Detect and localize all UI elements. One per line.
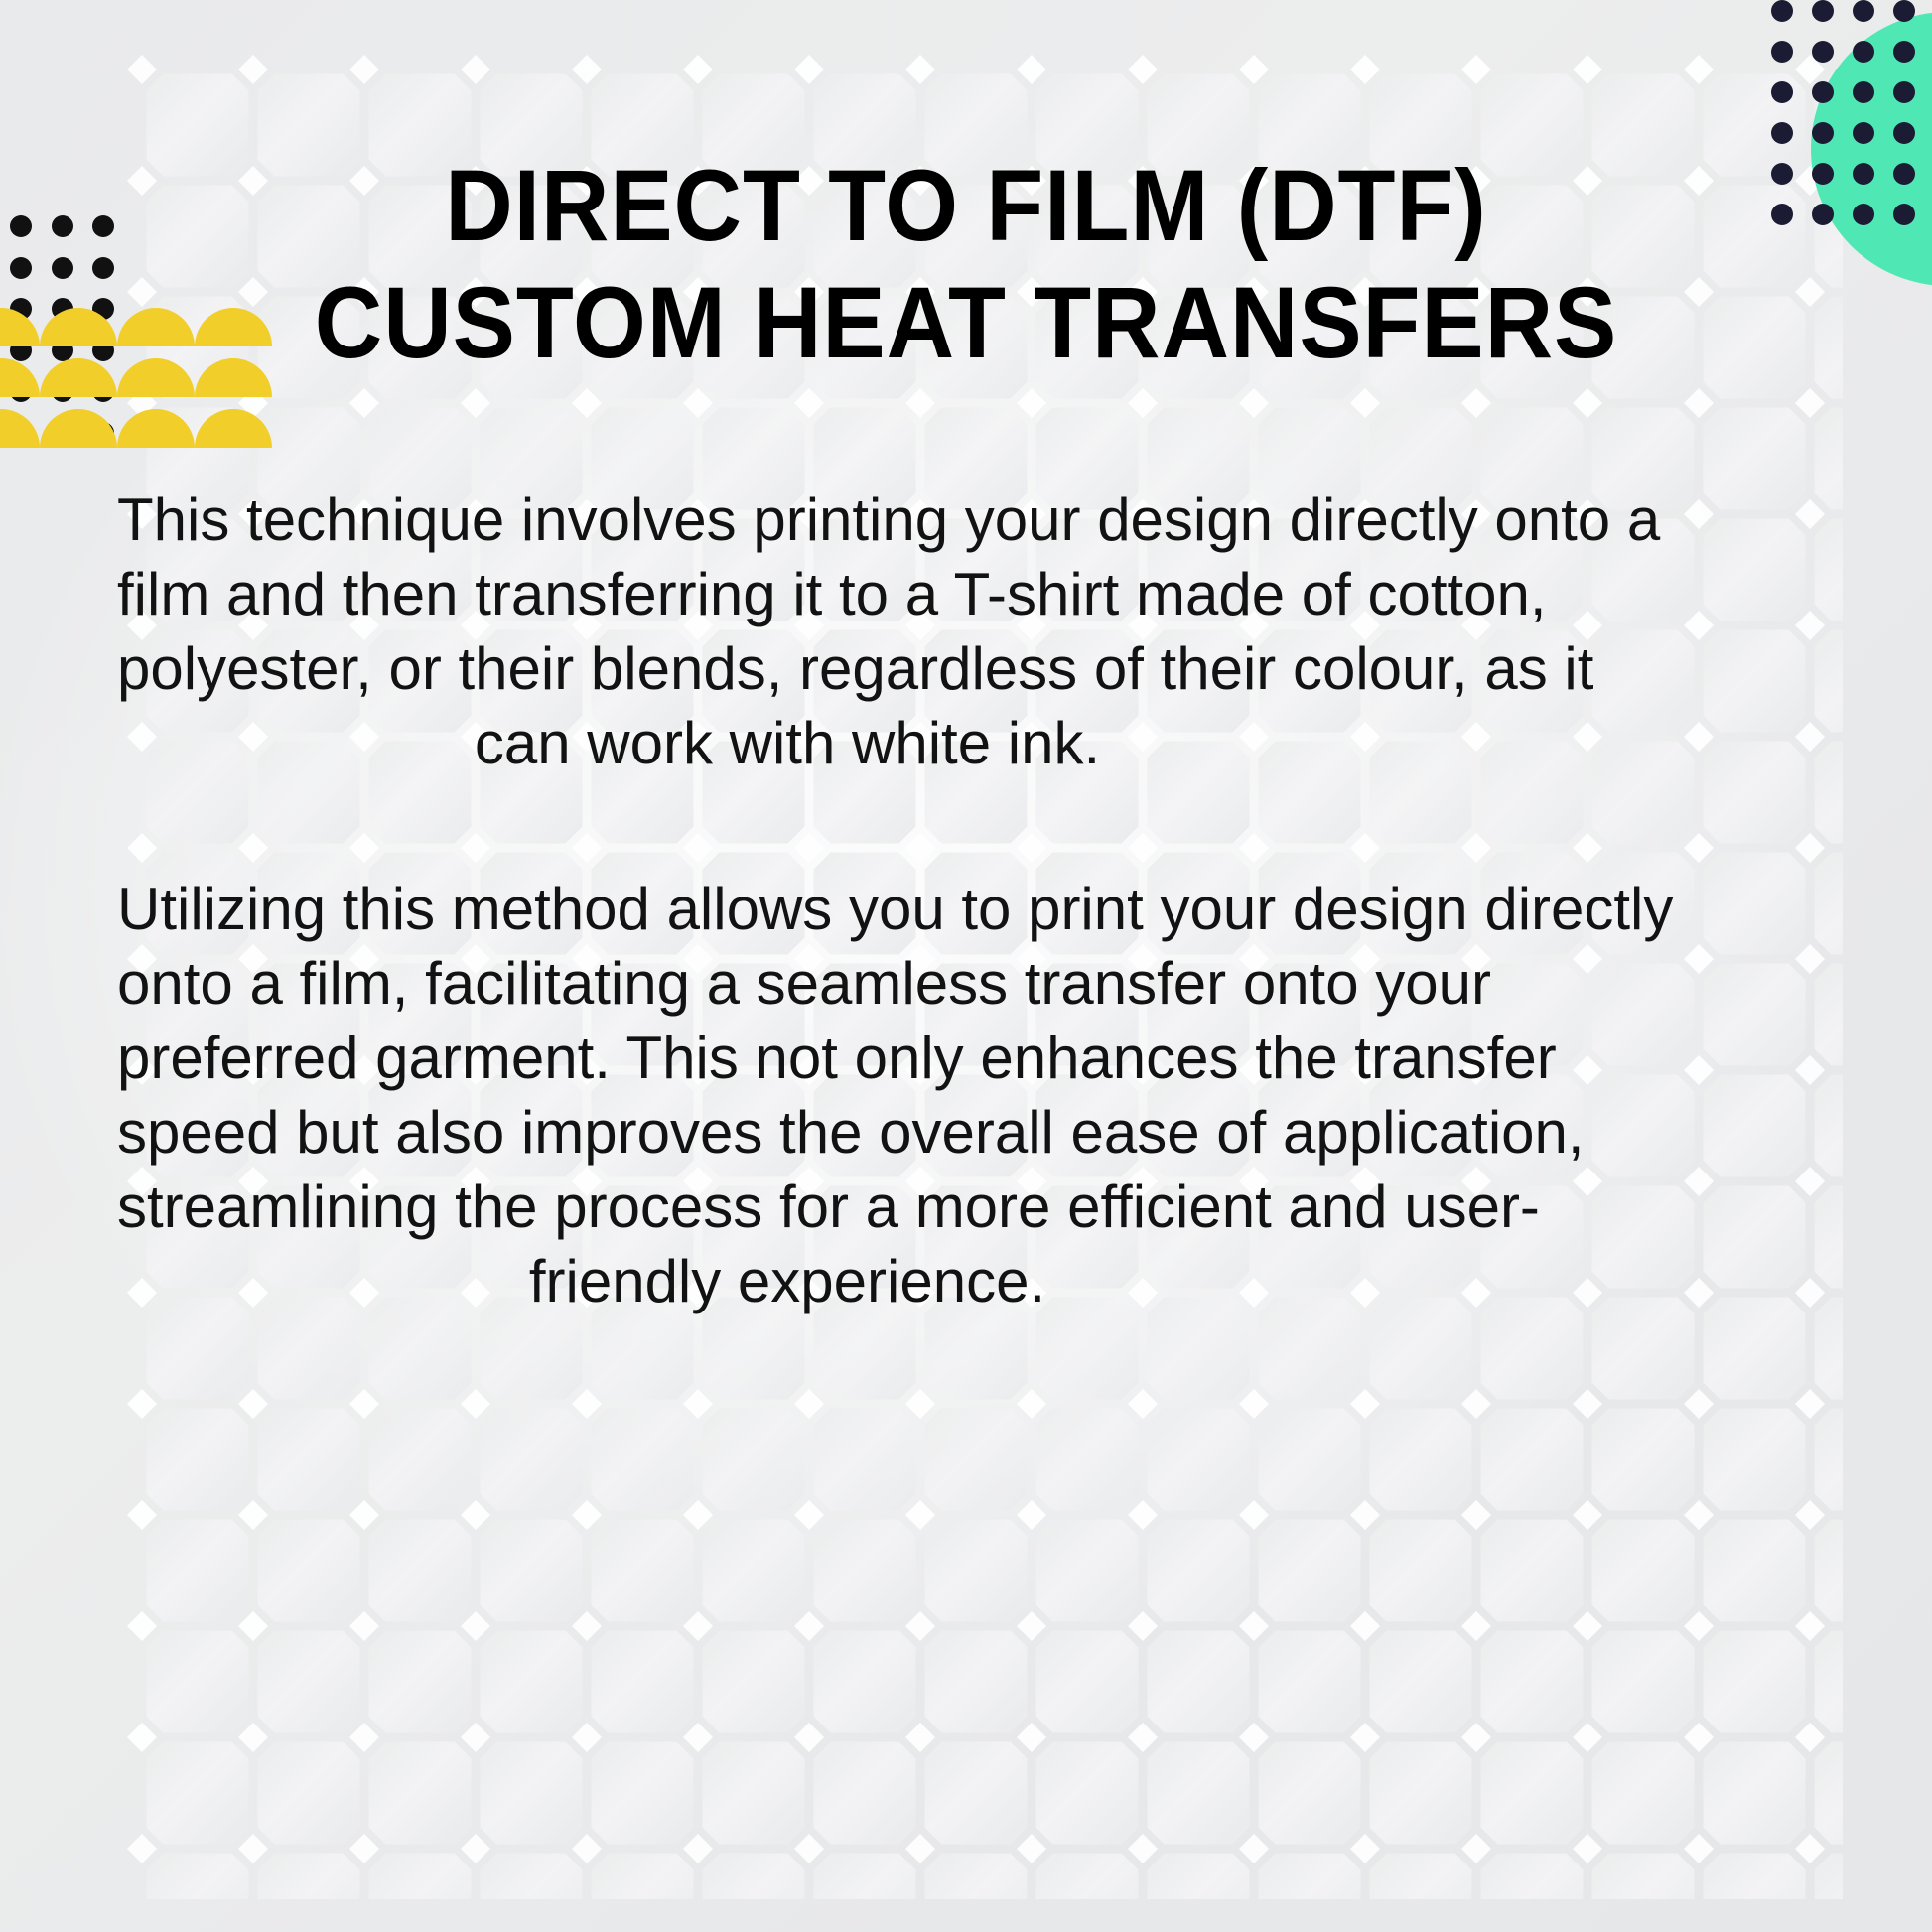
paragraph-2: Utilizing this method allows you to prin… bbox=[117, 872, 1457, 1318]
page-title-line-2: CUSTOM HEAT TRANSFERS bbox=[197, 264, 1734, 381]
body-copy: This technique involves printing your de… bbox=[117, 483, 1457, 1318]
paragraph-2-line-2: onto a film, facilitating a seamless tra… bbox=[117, 946, 1457, 1021]
paragraph-1-line-3: polyester, or their blends, regardless o… bbox=[117, 631, 1457, 706]
paragraph-1: This technique involves printing your de… bbox=[117, 483, 1457, 780]
page-title-line-1: DIRECT TO FILM (DTF) bbox=[197, 147, 1734, 264]
page-title: DIRECT TO FILM (DTF) CUSTOM HEAT TRANSFE… bbox=[197, 147, 1734, 381]
paragraph-1-line-4: can work with white ink. bbox=[117, 706, 1457, 780]
paragraph-2-line-3: preferred garment. This not only enhance… bbox=[117, 1021, 1457, 1095]
paragraph-2-line-5: streamlining the process for a more effi… bbox=[117, 1170, 1457, 1244]
poster-canvas: DIRECT TO FILM (DTF) CUSTOM HEAT TRANSFE… bbox=[0, 0, 1932, 1932]
paragraph-2-line-4: speed but also improves the overall ease… bbox=[117, 1095, 1457, 1170]
paragraph-1-line-2: film and then transferring it to a T-shi… bbox=[117, 557, 1457, 631]
paragraph-2-line-6: friendly experience. bbox=[117, 1244, 1457, 1318]
poster-content: DIRECT TO FILM (DTF) CUSTOM HEAT TRANSFE… bbox=[0, 0, 1932, 1932]
paragraph-2-line-1: Utilizing this method allows you to prin… bbox=[117, 872, 1457, 946]
paragraph-1-line-1: This technique involves printing your de… bbox=[117, 483, 1457, 557]
